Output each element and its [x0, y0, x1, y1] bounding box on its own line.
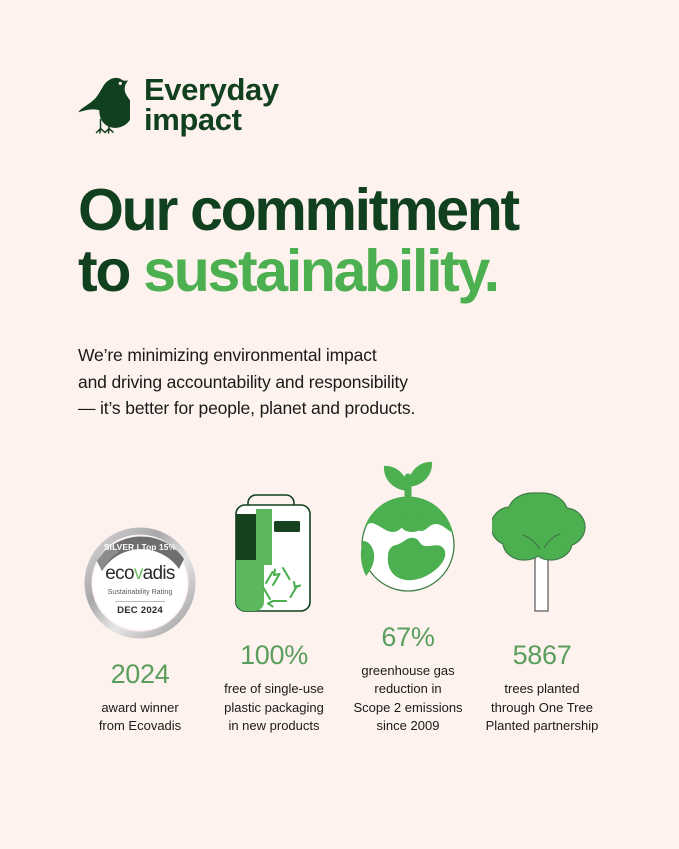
caption-line: plastic packaging — [224, 699, 324, 717]
wordmark-leaf-v: v — [134, 563, 143, 584]
globe-sprout-icon — [350, 457, 466, 602]
impact-stats-row: SILVER | Top 15% ecovadis Sustainability… — [78, 462, 604, 736]
caption-line: Planted partnership — [486, 717, 599, 735]
caption-line: since 2009 — [353, 717, 462, 735]
intro-line-1: We’re minimizing environmental impact — [78, 342, 639, 369]
intro-paragraph: We’re minimizing environmental impact an… — [78, 342, 639, 422]
stat-ecovadis-award: SILVER | Top 15% ecovadis Sustainability… — [78, 499, 202, 736]
stat-value: 2024 — [111, 661, 170, 688]
stat-plastic-free-packaging: 100% free of single-use plastic packagin… — [212, 480, 336, 735]
bird-icon — [78, 72, 130, 139]
stat-icon-wrap — [350, 462, 466, 602]
caption-line: free of single-use — [224, 680, 324, 698]
brand-name: Everyday impact — [144, 75, 279, 135]
caption-line: greenhouse gas — [353, 662, 462, 680]
medal-date: DEC 2024 — [83, 605, 197, 616]
stat-caption: greenhouse gas reduction in Scope 2 emis… — [353, 662, 462, 736]
stat-caption: award winner from Ecovadis — [99, 699, 181, 736]
page-title: Our commitment to sustainability. — [78, 180, 639, 303]
caption-line: from Ecovadis — [99, 717, 181, 735]
tree-icon — [492, 487, 592, 620]
stat-icon-wrap — [492, 480, 592, 620]
intro-line-3: — it’s better for people, planet and pro… — [78, 395, 639, 422]
ecovadis-wordmark: ecovadis — [83, 563, 197, 585]
wordmark-part1: eco — [105, 563, 134, 584]
brand-name-line2: impact — [144, 105, 279, 135]
stat-icon-wrap: SILVER | Top 15% ecovadis Sustainability… — [83, 499, 197, 639]
intro-line-2: and driving accountability and responsib… — [78, 369, 639, 396]
stat-caption: trees planted through One Tree Planted p… — [486, 680, 599, 735]
brand-name-line1: Everyday — [144, 75, 279, 105]
caption-line: Scope 2 emissions — [353, 699, 462, 717]
stat-value: 67% — [381, 624, 434, 651]
stat-emissions-reduction: 67% greenhouse gas reduction in Scope 2 … — [346, 462, 470, 736]
medal-divider — [115, 601, 165, 602]
packaging-box-recycle-icon — [226, 491, 322, 620]
headline-accent: sustainability. — [143, 238, 498, 304]
caption-line: through One Tree — [486, 699, 599, 717]
brand-logo: Everyday impact — [78, 68, 639, 142]
stat-caption: free of single-use plastic packaging in … — [224, 680, 324, 735]
stat-value: 100% — [240, 642, 308, 669]
stat-icon-wrap — [226, 480, 322, 620]
caption-line: award winner — [99, 699, 181, 717]
wordmark-part3: adis — [143, 563, 175, 584]
sustainability-infographic: Everyday impact Our commitment to sustai… — [0, 0, 679, 849]
caption-line: in new products — [224, 717, 324, 735]
stat-trees-planted: 5867 trees planted through One Tree Plan… — [480, 480, 604, 735]
headline-line1: Our commitment — [78, 177, 518, 243]
stat-value: 5867 — [513, 642, 572, 669]
medal-subtitle: Sustainability Rating — [83, 589, 197, 596]
caption-line: reduction in — [353, 680, 462, 698]
ecovadis-medal-icon: SILVER | Top 15% ecovadis Sustainability… — [83, 525, 197, 639]
caption-line: trees planted — [486, 680, 599, 698]
medal-ribbon-label: SILVER | Top 15% — [83, 542, 197, 552]
headline-line2-prefix: to — [78, 238, 143, 304]
